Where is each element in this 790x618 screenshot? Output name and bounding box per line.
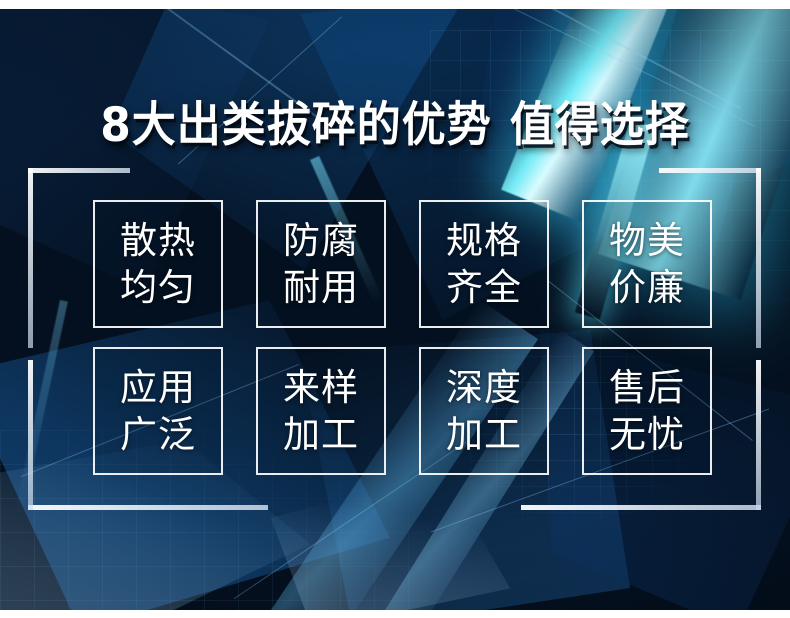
advantage-card-line1: 散热 xyxy=(120,217,196,264)
frame-bar-vertical xyxy=(756,168,761,348)
top-white-margin xyxy=(0,0,790,9)
advantage-card-line2: 均匀 xyxy=(120,264,196,311)
advantage-card[interactable]: 物美 价廉 xyxy=(582,200,712,328)
advantage-card-line2: 齐全 xyxy=(446,264,522,311)
advantage-card-line2: 广泛 xyxy=(120,411,196,458)
advantage-card-line1: 深度 xyxy=(446,364,522,411)
advantage-card[interactable]: 来样 加工 xyxy=(256,347,386,475)
frame-bar-horizontal xyxy=(28,168,130,173)
frame-bar-horizontal xyxy=(659,168,761,173)
advantage-card-line1: 来样 xyxy=(283,364,359,411)
page-title-main: 8大出类拔碎的优势 xyxy=(100,98,492,153)
frame-bar-vertical xyxy=(756,360,761,510)
advantage-card-line2: 加工 xyxy=(446,411,522,458)
frame-bar-vertical xyxy=(28,168,33,348)
advantage-card-line1: 售后 xyxy=(609,364,685,411)
advantage-card-line1: 应用 xyxy=(120,364,196,411)
advantage-card-line1: 防腐 xyxy=(283,217,359,264)
page-title-text: 8大出类拔碎的优势值得选择 xyxy=(100,101,690,151)
advantage-card[interactable]: 售后 无忧 xyxy=(582,347,712,475)
advantage-card-line1: 物美 xyxy=(609,217,685,264)
advantage-card[interactable]: 深度 加工 xyxy=(419,347,549,475)
advantage-card[interactable]: 应用 广泛 xyxy=(93,347,223,475)
advantage-card-grid: 散热 均匀 防腐 耐用 规格 齐全 物美 价廉 应用 广泛 来样 加工 深度 加… xyxy=(93,200,713,475)
frame-bar-vertical xyxy=(28,360,33,510)
advantage-card-line2: 耐用 xyxy=(283,264,359,311)
advantages-banner: 8大出类拔碎的优势值得选择 散热 均匀 防腐 耐用 规格 xyxy=(0,0,790,618)
frame-bar-horizontal xyxy=(28,505,268,510)
advantage-card-line2: 无忧 xyxy=(609,411,685,458)
frame-bar-horizontal xyxy=(521,505,761,510)
advantage-card[interactable]: 散热 均匀 xyxy=(93,200,223,328)
page-title: 8大出类拔碎的优势值得选择 xyxy=(0,103,790,149)
page-title-sub: 值得选择 xyxy=(510,98,690,153)
advantage-card[interactable]: 防腐 耐用 xyxy=(256,200,386,328)
advantage-card-line1: 规格 xyxy=(446,217,522,264)
advantage-card[interactable]: 规格 齐全 xyxy=(419,200,549,328)
advantage-card-line2: 加工 xyxy=(283,411,359,458)
bottom-white-margin xyxy=(0,610,790,618)
advantage-card-line2: 价廉 xyxy=(609,264,685,311)
